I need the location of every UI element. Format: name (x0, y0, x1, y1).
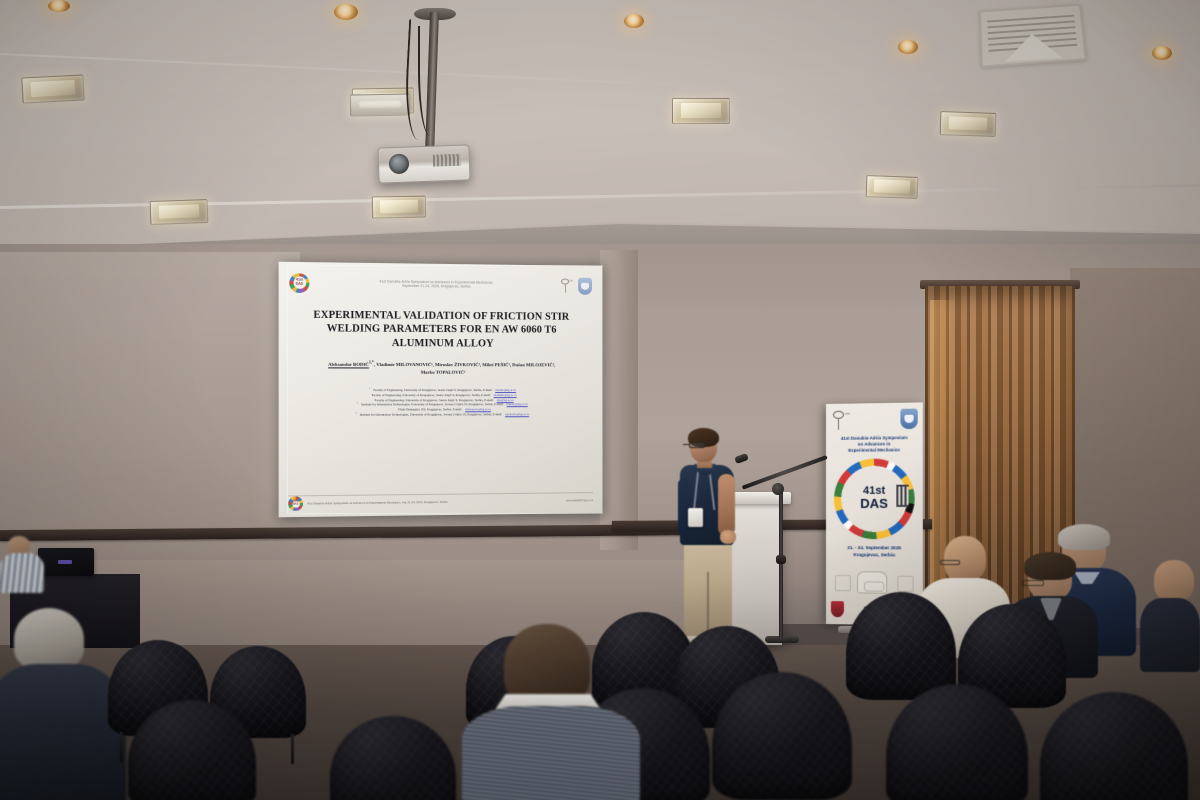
recessed-square-light-icon (21, 74, 84, 103)
affiliation-superscript: 2 (355, 413, 356, 418)
affiliation-superscript: 2 (357, 403, 358, 408)
banner-logos: UNI (831, 409, 918, 434)
microphone-stand-adjuster[interactable] (776, 555, 786, 564)
projector-vent-icon (433, 154, 461, 167)
recessed-square-light-icon (372, 196, 426, 219)
audience-body (1140, 598, 1200, 672)
banner-title: 41st Danubia-Adria Symposium on Advances… (831, 435, 918, 455)
operator-striped-shirt (0, 553, 44, 593)
das-logo-bottom: DAS (296, 283, 303, 287)
presenter-badge (688, 508, 703, 527)
recessed-downlight-icon (334, 4, 358, 20)
slide-affiliations: 1 Faculty of Engineering, University of … (289, 388, 592, 419)
affiliation-row: 2 Institute for Information Technologies… (296, 412, 586, 418)
institute-shield-logo-icon (578, 277, 592, 294)
recessed-downlight-icon (1152, 46, 1172, 60)
microphone-stand-pole (779, 490, 783, 640)
slide-footer-left: 41st Danubia-Adria Symposium on Advances… (307, 500, 447, 506)
university-logo-icon: UNI (560, 278, 573, 293)
banner-building-illustration-icon (835, 575, 851, 591)
wall-washer-light-icon (350, 93, 410, 116)
presenter-glasses-icon (689, 442, 705, 448)
sponsor-crest-icon (831, 601, 844, 617)
das-footer-logo-icon: 41st DAS (288, 496, 303, 511)
audience-striped-shirt (462, 706, 640, 800)
affiliation-text: Institute for Information Technologies, … (360, 413, 502, 418)
affiliation-email[interactable]: topalovic@kg.ac.rs (505, 412, 529, 417)
banner-emblem-bottom: DAS (860, 497, 888, 511)
slide-header: 41st DAS 41st Danubia-Adria Symposium on… (289, 271, 592, 297)
banner-building-illustration-icon (897, 576, 913, 592)
recessed-square-light-icon (940, 111, 997, 137)
first-author-name: Aleksandar BODIĆ (328, 362, 369, 367)
banner-university-logo-icon: UNI (831, 410, 849, 432)
audience-gray-hair (1058, 524, 1110, 550)
audience-person-foreground-center (456, 624, 646, 800)
audience-head-back (504, 624, 590, 706)
presenter-lanyard (693, 472, 715, 512)
recessed-square-light-icon (150, 199, 209, 225)
banner-column-motif-icon (896, 484, 908, 506)
banquet-chair[interactable] (886, 684, 1028, 800)
banquet-chair[interactable] (128, 700, 256, 800)
audience-head (944, 536, 986, 582)
banner-place: Kragujevac, Serbia (831, 551, 918, 559)
recessed-square-light-icon (672, 98, 730, 124)
recessed-downlight-icon (898, 40, 918, 54)
slide-authors: Aleksandar BODIĆ1,*, Vladimir MILOVANOVI… (289, 360, 592, 376)
banner-car-illustration-icon (857, 572, 887, 594)
banquet-chair[interactable] (712, 672, 852, 800)
recessed-square-light-icon (866, 175, 919, 199)
operator-laptop[interactable] (38, 548, 94, 576)
audience-person-far-right (1140, 560, 1200, 670)
laptop-screen-glow (58, 560, 72, 564)
banquet-chair[interactable] (1040, 692, 1188, 800)
recessed-downlight-icon (48, 0, 70, 12)
banner-flag-ring-emblem-icon: 41st DAS (834, 458, 915, 539)
slide-footer-right[interactable]: www.das2025.kg.ac.rs (566, 498, 593, 502)
projection-screen: 41st DAS 41st Danubia-Adria Symposium on… (279, 262, 602, 518)
projector-lens-icon (389, 154, 410, 175)
presenter-far-arm (678, 478, 691, 536)
microphone-boom-joint[interactable] (772, 483, 784, 495)
banquet-chair[interactable] (330, 716, 456, 800)
banner-title-line3: Experimental Mechanics (831, 448, 918, 455)
ceiling-air-diffuser-icon (979, 4, 1087, 68)
recessed-downlight-icon (624, 14, 644, 28)
das-footer-logo-bottom: DAS (293, 504, 299, 507)
affiliation-email[interactable]: mpesic@kg.ac.rs (507, 403, 528, 408)
audience-dark-hair (1024, 552, 1076, 580)
other-authors: , Vladimir MILOVANOVIĆ¹, Miroslav ŽIVKOV… (374, 362, 555, 368)
left-wall-section (0, 252, 300, 552)
audience-head (1154, 560, 1194, 602)
ceiling-projector (377, 144, 470, 183)
presenter-hand (720, 530, 736, 544)
wall-pillar (600, 250, 638, 550)
das-circular-logo-icon: 41st DAS (289, 273, 309, 293)
conference-room-photo: 41st DAS 41st Danubia-Adria Symposium on… (0, 0, 1200, 800)
presenter-near-arm (718, 474, 735, 536)
affiliation-superscript: 1 (369, 388, 370, 393)
authors-line-2: Marko TOPALOVIĆ² (300, 369, 582, 377)
presentation-slide: 41st DAS 41st Danubia-Adria Symposium on… (279, 262, 602, 518)
audience-glasses-icon (1022, 580, 1044, 586)
slide-footer: 41st DAS 41st Danubia-Adria Symposium on… (279, 493, 602, 511)
slide-header-text: 41st Danubia-Adria Symposium on Advances… (315, 278, 555, 290)
operator-person (0, 536, 44, 592)
banner-shield-logo-icon (900, 409, 917, 429)
slide-title: EXPERIMENTAL VALIDATION OF FRICTION STIR… (289, 308, 592, 351)
audience-gray-hair (14, 608, 84, 670)
banner-date-block: 21. - 24. September 2025 Kragujevac, Ser… (831, 544, 918, 559)
university-logo-label: UNI (569, 279, 573, 282)
audience-glasses-icon (940, 560, 960, 565)
audience-person-foreground-left (0, 608, 120, 800)
